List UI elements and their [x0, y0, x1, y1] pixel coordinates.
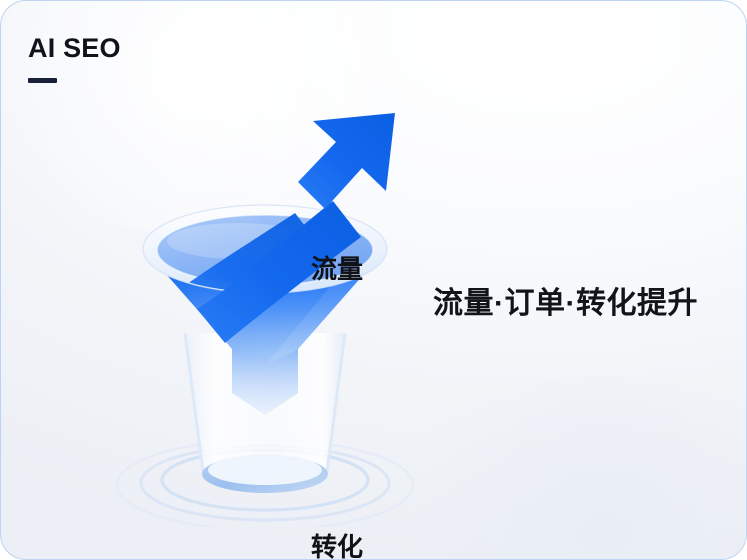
funnel-label-conversion: 转化 [311, 527, 363, 560]
page-title: AI SEO [28, 35, 121, 62]
title-underline-rule [28, 78, 57, 83]
funnel-illustration: 流量 转化 [89, 97, 449, 527]
brand-block: AI SEO [28, 35, 121, 83]
headline-text: 流量·订单·转化提升 [433, 278, 698, 322]
funnel-label-traffic: 流量 [311, 249, 363, 286]
illustration-card: AI SEO 流量·订单·转化提升 [0, 0, 747, 560]
